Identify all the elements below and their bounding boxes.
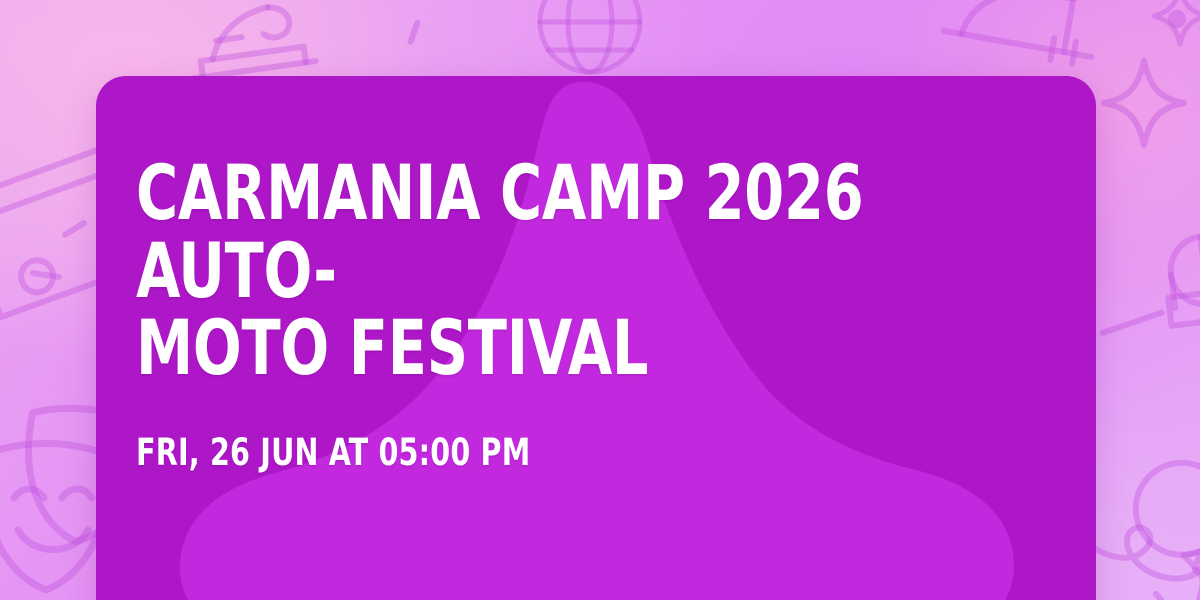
sparkle-icon	[1098, 55, 1190, 151]
event-datetime: Fri, 26 Jun at 05:00 PM	[136, 387, 1054, 474]
globe-icon	[530, 0, 650, 82]
event-card: Carmania Camp 2026 Auto-Moto Festival Fr…	[96, 76, 1096, 600]
card-text-block: Carmania Camp 2026 Auto-Moto Festival Fr…	[136, 76, 1056, 473]
event-banner: Carmania Camp 2026 Auto-Moto Festival Fr…	[0, 0, 1200, 600]
confetti-icon	[402, 16, 424, 48]
event-title: Carmania Camp 2026 Auto-Moto Festival	[136, 76, 1056, 387]
event-title-line-1: Carmania Camp 2026 Auto-	[136, 148, 863, 315]
event-title-line-2: Moto Festival	[136, 303, 648, 392]
confetti-icon	[1164, 6, 1190, 32]
